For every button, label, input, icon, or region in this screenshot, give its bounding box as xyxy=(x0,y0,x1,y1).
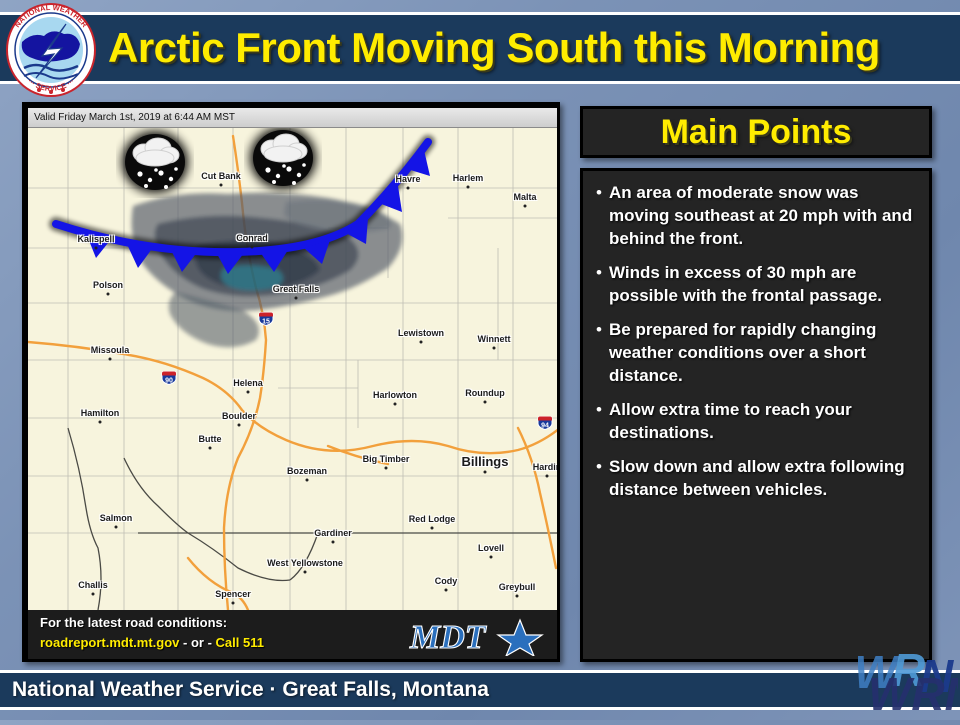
main-point-item: •Allow extra time to reach your destinat… xyxy=(589,398,915,444)
radar-map-panel[interactable]: Valid Friday March 1st, 2019 at 6:44 AM … xyxy=(22,102,560,662)
svg-text:94: 94 xyxy=(541,423,549,430)
city-label: Harlem xyxy=(453,173,484,183)
city-dot xyxy=(516,595,519,598)
svg-text:15: 15 xyxy=(262,319,270,326)
nws-seal-icon: NATIONAL WEATHER ··· SERVICE ··· xyxy=(2,2,100,98)
city-label: Greybull xyxy=(499,582,536,592)
city-label: Spencer xyxy=(215,589,251,599)
city-dot xyxy=(92,593,95,596)
bullet-marker: • xyxy=(589,181,609,204)
slide-title-bar: Arctic Front Moving South this Morning xyxy=(0,12,960,84)
city-label: Cody xyxy=(435,576,458,586)
main-points-list: •An area of moderate snow was moving sou… xyxy=(589,181,915,501)
city-dot xyxy=(524,205,527,208)
city-dot xyxy=(95,247,98,250)
main-point-item: •An area of moderate snow was moving sou… xyxy=(589,181,915,250)
city-dot xyxy=(115,526,118,529)
city-dot xyxy=(431,527,434,530)
interstate-shield-15: 15 xyxy=(258,312,274,327)
city-label: Havre xyxy=(395,174,420,184)
city-label: Cut Bank xyxy=(201,171,241,181)
city-label: Hardin xyxy=(533,462,560,472)
city-label: Missoula xyxy=(91,345,130,355)
city-dot xyxy=(232,602,235,605)
city-dot xyxy=(420,341,423,344)
city-dot xyxy=(220,184,223,187)
road-report-url[interactable]: roadreport.mdt.mt.gov xyxy=(40,635,179,650)
city-dot xyxy=(109,358,112,361)
city-dot xyxy=(493,347,496,350)
svg-text:90: 90 xyxy=(165,378,173,385)
map-canvas[interactable]: 15 90 94 xyxy=(28,128,560,610)
city-label: Hamilton xyxy=(81,408,120,418)
city-label: Conrad xyxy=(236,233,268,243)
map-graphics xyxy=(28,128,560,610)
snow-shower-icon xyxy=(116,128,194,203)
city-dot xyxy=(295,297,298,300)
city-label: Lovell xyxy=(478,543,504,553)
city-label: Harlowton xyxy=(373,390,417,400)
svg-text:MDT: MDT xyxy=(409,619,487,656)
main-point-item: •Slow down and allow extra following dis… xyxy=(589,455,915,501)
main-points-header: Main Points xyxy=(580,106,932,158)
interstate-shield-90: 90 xyxy=(161,371,177,386)
city-dot xyxy=(99,421,102,424)
bullet-marker: • xyxy=(589,261,609,284)
or-separator: - or - xyxy=(179,635,215,650)
city-dot xyxy=(332,541,335,544)
call-511-label: Call 511 xyxy=(216,635,264,650)
city-label: Roundup xyxy=(465,388,505,398)
city-label: Kalispell xyxy=(77,234,114,244)
bullet-marker: • xyxy=(589,318,609,341)
road-conditions-contact: roadreport.mdt.mt.gov - or - Call 511 xyxy=(40,635,264,650)
city-label: Polson xyxy=(93,280,123,290)
city-dot xyxy=(304,571,307,574)
main-point-text: An area of moderate snow was moving sout… xyxy=(609,181,915,250)
city-label: Bozeman xyxy=(287,466,327,476)
main-point-text: Allow extra time to reach your destinati… xyxy=(609,398,915,444)
interstate-shield-94: 94 xyxy=(537,416,553,431)
city-dot xyxy=(490,556,493,559)
city-dot xyxy=(484,471,487,474)
page-title: Arctic Front Moving South this Morning xyxy=(108,24,880,72)
map-footer: For the latest road conditions: roadrepo… xyxy=(28,610,560,662)
city-dot xyxy=(484,401,487,404)
city-dot xyxy=(247,391,250,394)
city-label: Butte xyxy=(199,434,222,444)
city-dot xyxy=(394,403,397,406)
city-label: Salmon xyxy=(100,513,133,523)
city-label: Gardiner xyxy=(314,528,352,538)
main-point-text: Slow down and allow extra following dist… xyxy=(609,455,915,501)
city-dot xyxy=(209,447,212,450)
city-dot xyxy=(238,424,241,427)
city-label: Helena xyxy=(233,378,263,388)
city-label: Lewistown xyxy=(398,328,444,338)
main-points-title: Main Points xyxy=(661,113,852,152)
city-dot xyxy=(445,589,448,592)
map-timestamp: Valid Friday March 1st, 2019 at 6:44 AM … xyxy=(28,108,560,128)
city-dot xyxy=(407,187,410,190)
svg-text:WRN: WRN xyxy=(868,668,958,720)
main-point-item: •Be prepared for rapidly changing weathe… xyxy=(589,318,915,387)
main-point-text: Be prepared for rapidly changing weather… xyxy=(609,318,915,387)
main-point-text: Winds in excess of 30 mph are possible w… xyxy=(609,261,915,307)
city-label: Boulder xyxy=(222,411,256,421)
city-label: Great Falls xyxy=(273,284,320,294)
city-label: Malta xyxy=(513,192,536,202)
city-dot xyxy=(385,467,388,470)
weather-ready-nation-logo-icon: W R N WRN xyxy=(858,648,958,720)
bullet-marker: • xyxy=(589,455,609,478)
city-dot xyxy=(306,479,309,482)
office-name-label: National Weather Service · Great Falls, … xyxy=(12,678,489,702)
city-dot xyxy=(467,186,470,189)
city-dot xyxy=(546,475,549,478)
main-point-item: •Winds in excess of 30 mph are possible … xyxy=(589,261,915,307)
city-label: Big Timber xyxy=(363,454,410,464)
city-label: Challis xyxy=(78,580,108,590)
bullet-marker: • xyxy=(589,398,609,421)
mdt-logo-icon: MDT xyxy=(408,616,550,656)
slide-footer-bar: National Weather Service · Great Falls, … xyxy=(0,670,960,710)
city-dot xyxy=(251,246,254,249)
city-dot xyxy=(107,293,110,296)
city-label: Winnett xyxy=(478,334,511,344)
snow-shower-icon xyxy=(244,128,322,199)
road-conditions-label: For the latest road conditions: xyxy=(40,615,227,630)
city-label: Red Lodge xyxy=(409,514,456,524)
city-label: West Yellowstone xyxy=(267,558,343,568)
city-label: Billings xyxy=(462,454,509,469)
main-points-body: •An area of moderate snow was moving sou… xyxy=(580,168,932,662)
